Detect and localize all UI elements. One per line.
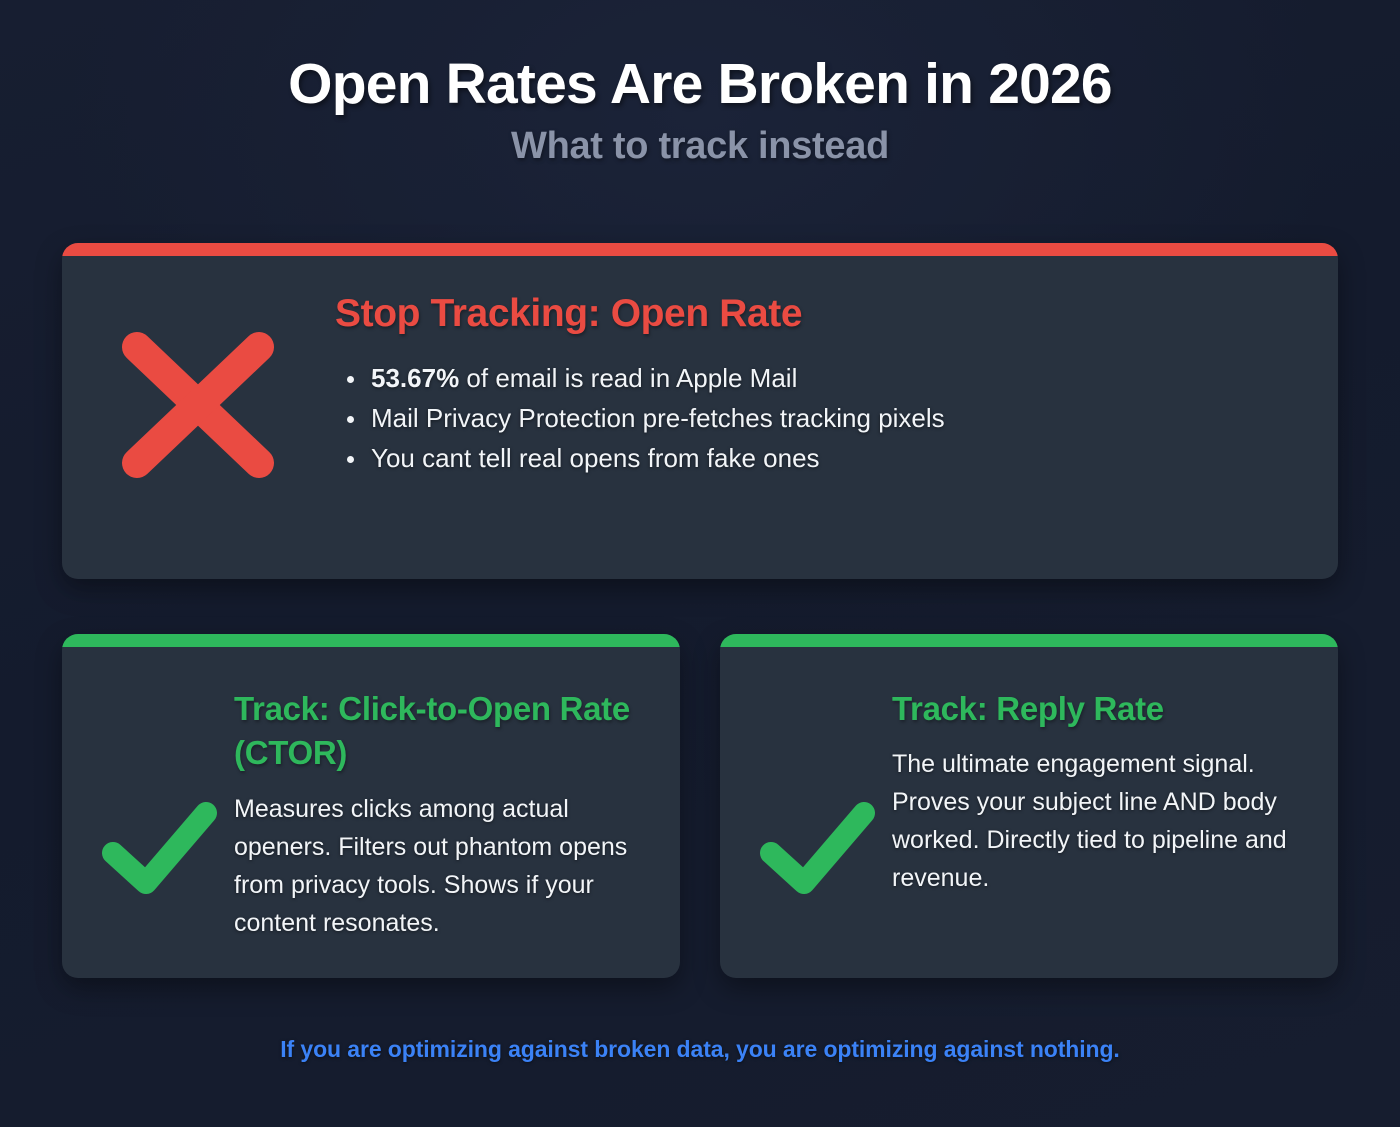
check-mark-icon bbox=[86, 687, 234, 978]
track-card-body: Track: Reply Rate The ultimate engagemen… bbox=[892, 687, 1308, 978]
card-accent-bar-red bbox=[62, 243, 1338, 256]
track-card-description: Measures clicks among actual openers. Fi… bbox=[234, 790, 644, 942]
track-card-content: Track: Click-to-Open Rate (CTOR) Measure… bbox=[62, 647, 680, 978]
stop-tracking-card: 53.67% Stop Tracking: Open Rate 53.67% o… bbox=[62, 243, 1338, 579]
card-accent-bar-green bbox=[62, 634, 680, 647]
bullet-text: Mail Privacy Protection pre-fetches trac… bbox=[371, 403, 945, 433]
track-card-reply-rate: Track: Reply Rate The ultimate engagemen… bbox=[720, 634, 1338, 978]
bullet-bold-value: 53.67% bbox=[371, 363, 459, 393]
list-item: 53.67% of email is read in Apple Mail bbox=[335, 358, 1308, 398]
stop-card-bullet-list: 53.67% of email is read in Apple Mail Ma… bbox=[335, 358, 1308, 478]
list-item: Mail Privacy Protection pre-fetches trac… bbox=[335, 398, 1308, 438]
track-card-content: Track: Reply Rate The ultimate engagemen… bbox=[720, 647, 1338, 978]
track-card-ctor: Track: Click-to-Open Rate (CTOR) Measure… bbox=[62, 634, 680, 978]
track-card-description: The ultimate engagement signal. Proves y… bbox=[892, 745, 1302, 897]
x-mark-icon bbox=[120, 290, 335, 480]
stop-card-heading: Stop Tracking: Open Rate bbox=[335, 292, 1308, 336]
card-accent-bar-green bbox=[720, 634, 1338, 647]
stop-card-content: Stop Tracking: Open Rate 53.67% of email… bbox=[62, 256, 1338, 579]
header: Open Rates Are Broken in 2026 What to tr… bbox=[0, 54, 1400, 168]
page-subtitle: What to track instead bbox=[0, 126, 1400, 168]
footer-tagline: If you are optimizing against broken dat… bbox=[0, 1036, 1400, 1063]
track-card-heading: Track: Reply Rate bbox=[892, 687, 1302, 731]
infographic-page: Open Rates Are Broken in 2026 What to tr… bbox=[0, 0, 1400, 1127]
bullet-text: You cant tell real opens from fake ones bbox=[371, 443, 820, 473]
bullet-text: of email is read in Apple Mail bbox=[459, 363, 797, 393]
track-card-heading: Track: Click-to-Open Rate (CTOR) bbox=[234, 687, 644, 774]
page-title: Open Rates Are Broken in 2026 bbox=[0, 54, 1400, 114]
stop-card-body: Stop Tracking: Open Rate 53.67% of email… bbox=[335, 290, 1308, 478]
check-mark-icon bbox=[744, 687, 892, 978]
track-card-body: Track: Click-to-Open Rate (CTOR) Measure… bbox=[234, 687, 650, 978]
list-item: You cant tell real opens from fake ones bbox=[335, 438, 1308, 478]
